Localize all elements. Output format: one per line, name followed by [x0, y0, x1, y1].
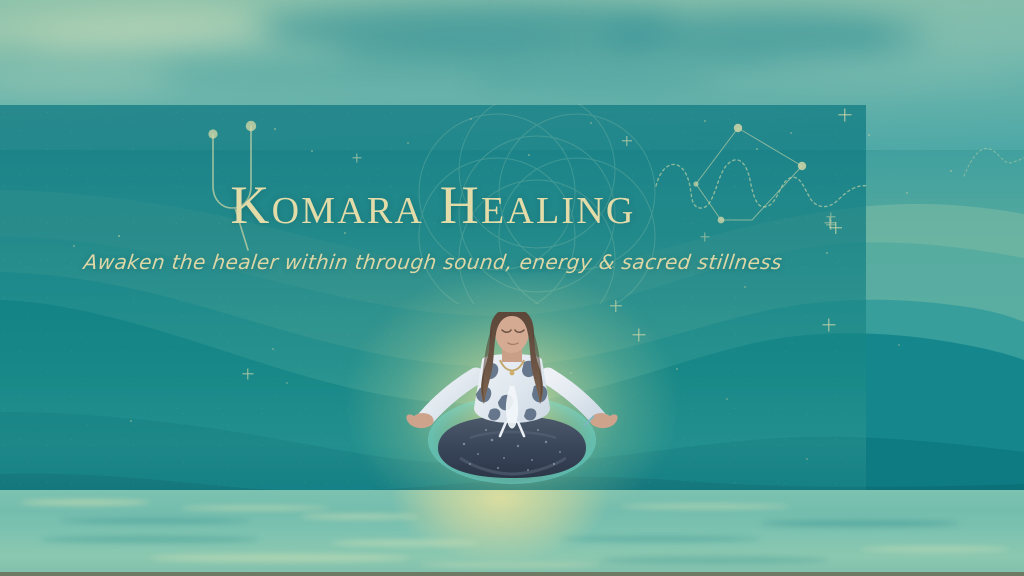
meditating-figure-group — [398, 312, 626, 494]
hero-banner: Komara Healing Awaken the healer within … — [0, 0, 1024, 576]
tagline: Awaken the healer within through sound, … — [0, 250, 867, 274]
cloud-wisp — [470, 66, 720, 90]
cloud-wisp — [760, 52, 1020, 86]
cloud-wisp — [150, 60, 530, 86]
page-title: Komara Healing — [0, 178, 866, 233]
bottom-edge-strip — [0, 572, 1024, 576]
meditating-woman-lotus-pose — [398, 312, 626, 494]
